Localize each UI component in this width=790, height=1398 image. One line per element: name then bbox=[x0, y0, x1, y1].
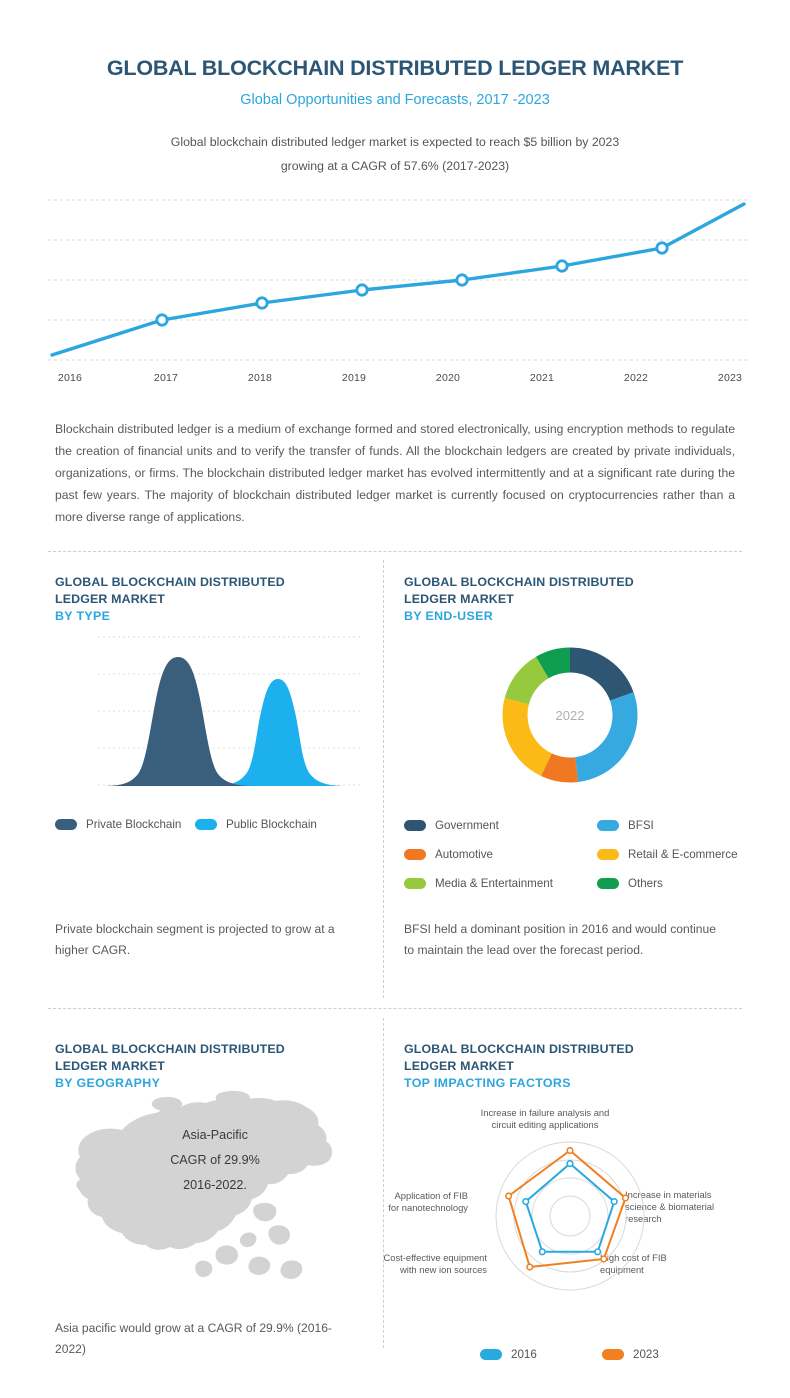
map-caption: Asia-Pacific CAGR of 29.9% 2016-2022. bbox=[120, 1123, 310, 1198]
legend-label-public-blockchain: Public Blockchain bbox=[226, 818, 317, 831]
panel-title-by-type-line1: GLOBAL BLOCKCHAIN DISTRIBUTED bbox=[55, 575, 285, 589]
column-divider-bottom bbox=[383, 1018, 384, 1348]
panel-title-by-type: GLOBAL BLOCKCHAIN DISTRIBUTED LEDGER MAR… bbox=[55, 574, 355, 625]
x-tick-2016: 2016 bbox=[58, 372, 82, 384]
section-divider-bottom bbox=[48, 1008, 742, 1009]
line-chart-x-axis-labels: 2016 2017 2018 2019 2020 2021 2022 2023 bbox=[48, 372, 748, 388]
legend-swatch-government-icon bbox=[404, 820, 426, 831]
legend-label-private-blockchain: Private Blockchain bbox=[86, 818, 181, 831]
legend-item-public-blockchain: Public Blockchain bbox=[195, 818, 317, 831]
legend-swatch-bfsi-icon bbox=[597, 820, 619, 831]
bell-curve-private-blockchain bbox=[104, 657, 256, 786]
by-end-user-donut-chart: 2022 bbox=[487, 632, 653, 798]
legend-item-government: Government bbox=[404, 819, 499, 832]
legend-label-retail-ecommerce: Retail & E-commerce bbox=[628, 848, 738, 861]
top-impacting-factors-radar-chart bbox=[490, 1136, 650, 1296]
x-tick-2019: 2019 bbox=[342, 372, 366, 384]
radar-label-left-line-2: for nanotechnology bbox=[368, 1202, 468, 1214]
panel-title-by-geography-line2: LEDGER MARKET bbox=[55, 1059, 165, 1073]
page-subtitle: Global Opportunities and Forecasts, 2017… bbox=[0, 92, 790, 108]
intro-text-line-1: Global blockchain distributed ledger mar… bbox=[0, 135, 790, 149]
bell-curve-svg bbox=[98, 634, 360, 794]
x-tick-2020: 2020 bbox=[436, 372, 460, 384]
panel-title-top-factors: GLOBAL BLOCKCHAIN DISTRIBUTED LEDGER MAR… bbox=[404, 1041, 724, 1092]
legend-item-radar-2016: 2016 bbox=[480, 1348, 537, 1361]
legend-swatch-2016-icon bbox=[480, 1349, 502, 1360]
panel-title-by-end-user-line2: LEDGER MARKET bbox=[404, 592, 514, 606]
radar-label-top-line-1: Increase in failure analysis and bbox=[470, 1107, 620, 1119]
map-caption-line-3: 2016-2022. bbox=[120, 1173, 310, 1198]
legend-swatch-retail-ecommerce-icon bbox=[597, 849, 619, 860]
page-title: GLOBAL BLOCKCHAIN DISTRIBUTED LEDGER MAR… bbox=[0, 56, 790, 81]
intro-text-line-2: growing at a CAGR of 57.6% (2017-2023) bbox=[0, 159, 790, 173]
legend-label-bfsi: BFSI bbox=[628, 819, 654, 832]
panel-title-by-end-user-sub: BY END-USER bbox=[404, 608, 714, 625]
x-tick-2021: 2021 bbox=[530, 372, 554, 384]
legend-label-government: Government bbox=[435, 819, 499, 832]
radar-label-bottom-left: Cost-effective equipment with new ion so… bbox=[362, 1252, 487, 1276]
legend-swatch-automotive-icon bbox=[404, 849, 426, 860]
legend-item-bfsi: BFSI bbox=[597, 819, 654, 832]
line-chart-gridlines bbox=[48, 200, 748, 360]
legend-swatch-media-entertainment-icon bbox=[404, 878, 426, 889]
x-tick-2017: 2017 bbox=[154, 372, 178, 384]
panel-title-by-end-user: GLOBAL BLOCKCHAIN DISTRIBUTED LEDGER MAR… bbox=[404, 574, 714, 625]
legend-swatch-2023-icon bbox=[602, 1349, 624, 1360]
lead-paragraph: Blockchain distributed ledger is a mediu… bbox=[55, 418, 735, 528]
legend-item-media-entertainment: Media & Entertainment bbox=[404, 877, 553, 890]
note-by-end-user: BFSI held a dominant position in 2016 an… bbox=[404, 919, 724, 961]
panel-title-by-type-line2: LEDGER MARKET bbox=[55, 592, 165, 606]
note-by-type: Private blockchain segment is projected … bbox=[55, 919, 345, 961]
map-caption-line-2: CAGR of 29.9% bbox=[120, 1148, 310, 1173]
donut-center-label: 2022 bbox=[556, 708, 585, 723]
panel-title-by-type-sub: BY TYPE bbox=[55, 608, 355, 625]
legend-item-private-blockchain: Private Blockchain bbox=[55, 818, 181, 831]
legend-item-others: Others bbox=[597, 877, 663, 890]
legend-swatch-others-icon bbox=[597, 878, 619, 889]
market-growth-line-chart bbox=[48, 198, 748, 363]
legend-swatch-public-blockchain-icon bbox=[195, 819, 217, 830]
radar-label-top: Increase in failure analysis and circuit… bbox=[470, 1107, 620, 1131]
map-caption-line-1: Asia-Pacific bbox=[120, 1123, 310, 1148]
section-divider-top bbox=[48, 551, 742, 552]
x-tick-2018: 2018 bbox=[248, 372, 272, 384]
panel-title-by-geography-line1: GLOBAL BLOCKCHAIN DISTRIBUTED bbox=[55, 1042, 285, 1056]
panel-title-top-factors-line1: GLOBAL BLOCKCHAIN DISTRIBUTED bbox=[404, 1042, 634, 1056]
by-type-bell-curve-chart bbox=[98, 634, 360, 794]
x-tick-2022: 2022 bbox=[624, 372, 648, 384]
radar-label-left-line-1: Application of FIB bbox=[368, 1190, 468, 1202]
column-divider-middle bbox=[383, 560, 384, 998]
legend-label-2023: 2023 bbox=[633, 1348, 659, 1361]
radar-label-bottom-left-line-2: with new ion sources bbox=[362, 1264, 487, 1276]
legend-item-retail-ecommerce: Retail & E-commerce bbox=[597, 848, 738, 861]
bell-curve-public-blockchain bbox=[206, 679, 348, 786]
legend-item-automotive: Automotive bbox=[404, 848, 493, 861]
panel-title-by-end-user-line1: GLOBAL BLOCKCHAIN DISTRIBUTED bbox=[404, 575, 634, 589]
radar-chart-svg bbox=[490, 1136, 650, 1296]
line-chart-svg bbox=[48, 198, 748, 363]
x-tick-2023: 2023 bbox=[718, 372, 742, 384]
panel-title-top-factors-line2: LEDGER MARKET bbox=[404, 1059, 514, 1073]
legend-label-media-entertainment: Media & Entertainment bbox=[435, 877, 553, 890]
donut-slices: 2022 bbox=[515, 660, 625, 770]
legend-item-radar-2023: 2023 bbox=[602, 1348, 659, 1361]
legend-swatch-private-blockchain-icon bbox=[55, 819, 77, 830]
radar-label-left: Application of FIB for nanotechnology bbox=[368, 1190, 468, 1214]
note-by-geography: Asia pacific would grow at a CAGR of 29.… bbox=[55, 1318, 355, 1360]
radar-label-bottom-left-line-1: Cost-effective equipment bbox=[362, 1252, 487, 1264]
legend-label-2016: 2016 bbox=[511, 1348, 537, 1361]
bell-curve-gridlines bbox=[98, 637, 360, 785]
radar-label-top-line-2: circuit editing applications bbox=[470, 1119, 620, 1131]
legend-label-others: Others bbox=[628, 877, 663, 890]
panel-title-top-factors-sub: TOP IMPACTING FACTORS bbox=[404, 1075, 724, 1092]
legend-label-automotive: Automotive bbox=[435, 848, 493, 861]
donut-chart-svg: 2022 bbox=[487, 632, 653, 798]
